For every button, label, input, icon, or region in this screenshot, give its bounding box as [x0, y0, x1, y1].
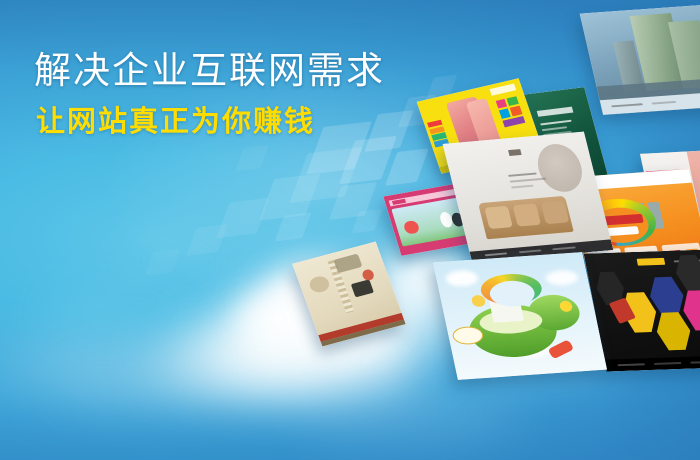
- thumb-portrait: [533, 142, 587, 193]
- thumb-sofa-cushion: [541, 201, 569, 224]
- banner-copy: 解决企业互联网需求 让网站真正为你赚钱: [34, 48, 385, 142]
- showcase-card-green-island[interactable]: [433, 252, 607, 380]
- banner-subline: 让网站真正为你赚钱: [36, 102, 385, 142]
- thumb-textline: [511, 184, 534, 188]
- thumb-logo: [508, 149, 522, 156]
- thumb-textline: [540, 120, 572, 126]
- thumb-stamp: [361, 268, 376, 282]
- thumb-textline: [542, 126, 568, 131]
- thumb-cloud: [444, 269, 480, 288]
- thumb-logo: [637, 258, 666, 266]
- card-thumb-green-island: [433, 252, 607, 380]
- thumb-sketch: [307, 275, 331, 295]
- thumb-swatch: [495, 99, 507, 109]
- thumb-sketch: [333, 253, 363, 273]
- thumb-swatch: [507, 96, 519, 106]
- thumb-sofa-cushion: [485, 206, 513, 229]
- thumb-swatch: [499, 109, 511, 119]
- showcase-card-grey-sofa[interactable]: [443, 132, 614, 263]
- thumb-textline: [508, 172, 537, 176]
- thumb-logo: [537, 107, 574, 117]
- banner-headline: 解决企业互联网需求: [34, 48, 385, 94]
- thumb-cloud: [544, 269, 580, 287]
- card-thumb-grey-sofa: [443, 132, 614, 263]
- thumb-stamp: [351, 279, 374, 297]
- banner-root: 解决企业互联网需求 让网站真正为你赚钱: [0, 0, 700, 460]
- thumb-textline: [509, 177, 546, 182]
- thumb-logo: [489, 83, 516, 95]
- thumb-swatch: [502, 116, 525, 127]
- thumb-swatch: [510, 106, 522, 116]
